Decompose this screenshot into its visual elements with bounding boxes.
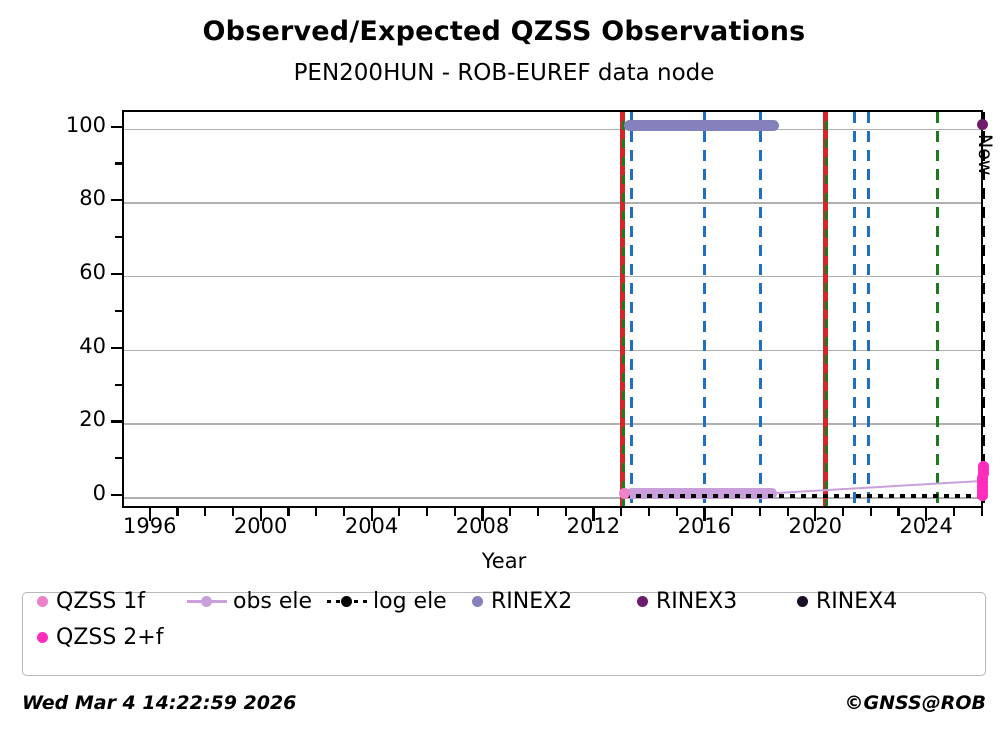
x-tick-minor-2014 xyxy=(648,508,650,516)
series-rinex3-point-0 xyxy=(977,119,988,130)
y-tick-minor-10 xyxy=(115,457,122,459)
event-2015-blue xyxy=(703,112,706,506)
y-tick-label-40: 40 xyxy=(36,334,106,358)
y-tick-minor-30 xyxy=(115,384,122,386)
legend-marker-line-icon xyxy=(327,594,367,608)
legend-item-rinex4[interactable]: RINEX4 xyxy=(797,589,897,614)
event-2020-red-green-red-overlay xyxy=(823,112,825,506)
y-tick-major-80 xyxy=(111,199,122,201)
event-2022-blue xyxy=(867,112,870,506)
footer-credit: ©GNSS@ROB xyxy=(845,692,986,714)
x-tick-label-2008: 2008 xyxy=(456,514,509,538)
y-tick-minor-90 xyxy=(115,162,122,164)
chart-legend: QZSS 1fobs elelog eleRINEX2RINEX3RINEX4Q… xyxy=(22,592,986,676)
x-tick-minor-2002 xyxy=(315,508,317,516)
y-tick-label-20: 20 xyxy=(36,407,106,431)
legend-marker-dot-icon xyxy=(637,596,648,607)
x-tick-minor-2006 xyxy=(426,508,428,516)
y-tick-label-100: 100 xyxy=(36,113,106,137)
x-tick-minor-2013 xyxy=(620,508,622,516)
legend-marker-center-dot-icon xyxy=(201,596,212,607)
footer-timestamp: Wed Mar 4 14:22:59 2026 xyxy=(22,692,296,714)
legend-label: RINEX2 xyxy=(491,589,572,614)
x-tick-minor-2001 xyxy=(287,508,289,516)
legend-item-qzss-1f[interactable]: QZSS 1f xyxy=(37,589,145,614)
event-2024-green xyxy=(936,112,939,506)
event-2021-blue xyxy=(853,112,856,506)
legend-marker-line-icon xyxy=(187,594,227,608)
y-tick-major-20 xyxy=(111,420,122,422)
event-2020-red-green xyxy=(825,112,828,506)
legend-marker-center-dot-icon xyxy=(341,596,352,607)
x-tick-label-2024: 2024 xyxy=(899,514,952,538)
event-2013-red-green xyxy=(622,112,625,506)
x-tick-minor-2017 xyxy=(731,508,733,516)
y-tick-minor-50 xyxy=(115,310,122,312)
chart-page: Observed/Expected QZSS Observations PEN2… xyxy=(0,0,1008,734)
y-tick-major-100 xyxy=(111,126,122,128)
legend-item-obs-ele[interactable]: obs ele xyxy=(187,589,312,614)
plot-area: Now xyxy=(122,110,983,508)
event-2013-blue xyxy=(630,112,633,506)
x-tick-label-2000: 2000 xyxy=(234,514,287,538)
y-tick-major-40 xyxy=(111,347,122,349)
x-tick-minor-1997 xyxy=(176,508,178,516)
x-tick-minor-2018 xyxy=(759,508,761,516)
legend-label: RINEX4 xyxy=(816,589,897,614)
legend-marker-dot-icon xyxy=(37,596,48,607)
x-tick-minor-2026 xyxy=(981,508,983,516)
legend-marker-dot-icon xyxy=(472,596,483,607)
y-tick-label-60: 60 xyxy=(36,260,106,284)
y-tick-label-80: 80 xyxy=(36,186,106,210)
legend-item-rinex2[interactable]: RINEX2 xyxy=(472,589,572,614)
legend-label: RINEX3 xyxy=(656,589,737,614)
x-tick-label-2012: 2012 xyxy=(567,514,620,538)
series-qzss-1f-point-0 xyxy=(619,488,630,499)
series-log-ele-line xyxy=(625,494,984,498)
legend-label: QZSS 2+f xyxy=(56,625,164,650)
event-2013-red-green-red-overlay xyxy=(620,112,622,506)
y-tick-minor-70 xyxy=(115,236,122,238)
x-tick-minor-2009 xyxy=(509,508,511,516)
x-tick-minor-1998 xyxy=(204,508,206,516)
event-2017-blue xyxy=(759,112,762,506)
now-annotation-label: Now xyxy=(974,134,996,175)
x-tick-label-2004: 2004 xyxy=(345,514,398,538)
x-tick-minor-2010 xyxy=(537,508,539,516)
legend-label: log ele xyxy=(373,589,447,614)
series-obs-ele-trend-line xyxy=(777,480,984,494)
legend-item-qzss-2-f[interactable]: QZSS 2+f xyxy=(37,625,164,650)
x-tick-label-2020: 2020 xyxy=(789,514,842,538)
series-qzss-2-f-point-7 xyxy=(978,461,989,472)
y-tick-major-60 xyxy=(111,273,122,275)
legend-item-log-ele[interactable]: log ele xyxy=(327,589,447,614)
legend-marker-dot-icon xyxy=(37,632,48,643)
x-axis-label: Year xyxy=(0,549,1008,573)
legend-marker-dot-icon xyxy=(797,596,808,607)
x-tick-minor-2005 xyxy=(398,508,400,516)
series-rinex2-band xyxy=(624,120,779,131)
y-tick-label-0: 0 xyxy=(36,481,106,505)
legend-label: obs ele xyxy=(233,589,312,614)
chart-title: Observed/Expected QZSS Observations xyxy=(0,16,1008,47)
legend-item-rinex3[interactable]: RINEX3 xyxy=(637,589,737,614)
x-tick-label-1996: 1996 xyxy=(123,514,176,538)
x-tick-minor-2022 xyxy=(870,508,872,516)
legend-label: QZSS 1f xyxy=(56,589,145,614)
y-tick-major-0 xyxy=(111,494,122,496)
x-tick-minor-2021 xyxy=(842,508,844,516)
chart-subtitle: PEN200HUN - ROB-EUREF data node xyxy=(0,60,1008,86)
x-tick-label-2016: 2016 xyxy=(678,514,731,538)
x-tick-minor-2025 xyxy=(953,508,955,516)
